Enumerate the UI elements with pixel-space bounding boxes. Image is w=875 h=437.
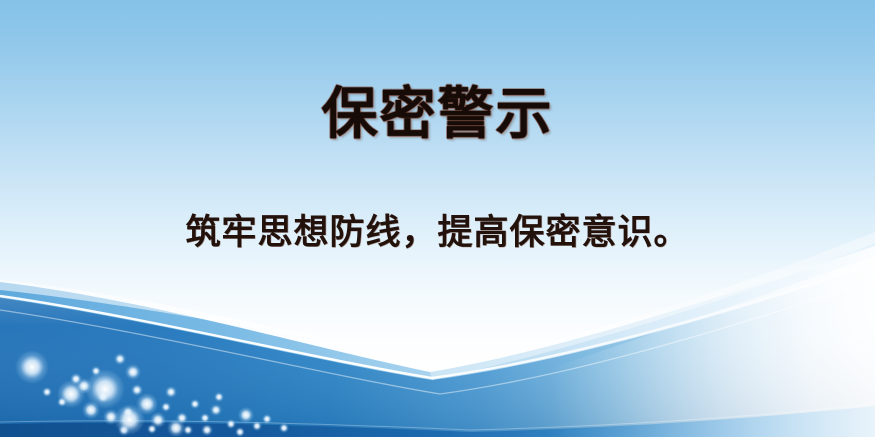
secrecy-warning-poster: 保密警示 筑牢思想防线，提高保密意识。 [0, 0, 875, 437]
poster-text-layer: 保密警示 筑牢思想防线，提高保密意识。 [0, 0, 875, 437]
page-title: 保密警示 [0, 84, 875, 146]
poster-subtitle: 筑牢思想防线，提高保密意识。 [0, 211, 875, 256]
